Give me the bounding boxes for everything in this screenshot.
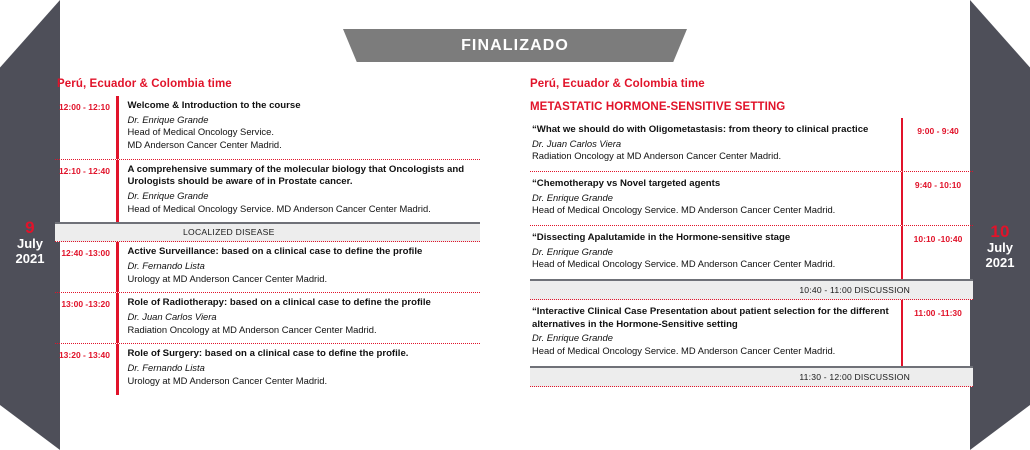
day2-session-title: “Chemotherapy vs Novel targeted agents (532, 178, 893, 191)
day2-date-day: 10 (970, 222, 1030, 241)
day2-session-time: 10:10 -10:40 (903, 226, 973, 279)
day1-date-month: July (0, 237, 60, 252)
day1-session-body: Role of Radiotherapy: based on a clinica… (119, 293, 481, 343)
day1-session-speaker: Dr. Enrique Grande (128, 190, 479, 203)
day2-timezone-title: Perú, Ecuador & Colombia time (530, 78, 705, 90)
day1-session-speaker: Dr. Fernando Lista (128, 362, 479, 375)
day1-session-time: 12:00 - 12:10 (55, 96, 116, 159)
day1-session-speaker: Dr. Juan Carlos Viera (128, 311, 479, 324)
day2-date: 10 July 2021 (970, 222, 1030, 270)
day2-session-body: “What we should do with Oligometastasis:… (530, 118, 901, 171)
day1-session-time: 12:40 -13:00 (55, 242, 116, 292)
day1-session-row[interactable]: 13:20 - 13:40Role of Surgery: based on a… (55, 344, 480, 394)
day1-session-body: Active Surveillance: based on a clinical… (119, 242, 481, 292)
day1-session-title: Active Surveillance: based on a clinical… (128, 246, 479, 259)
day2-session-time: 9:40 - 10:10 (903, 172, 973, 225)
day2-session-speaker: Dr. Enrique Grande (532, 192, 893, 205)
day1-session-title: Welcome & Introduction to the course (128, 100, 479, 113)
day2-session-title: “What we should do with Oligometastasis:… (532, 124, 893, 137)
day2-discussion-band-label: 11:30 - 12:00 DISCUSSION (799, 372, 910, 382)
day1-date: 9 July 2021 (0, 218, 60, 266)
day2-schedule-list: “What we should do with Oligometastasis:… (530, 118, 973, 387)
day2-session-time: 9:00 - 9:40 (903, 118, 973, 171)
day2-session-affiliation: Head of Medical Oncology Service. MD And… (532, 204, 893, 217)
day1-session-speaker: Dr. Enrique Grande (128, 114, 479, 127)
day2-session-affiliation: Head of Medical Oncology Service. MD And… (532, 345, 893, 358)
day2-session-title: “Dissecting Apalutamide in the Hormone-s… (532, 232, 893, 245)
day2-session-affiliation: Head of Medical Oncology Service. MD And… (532, 258, 893, 271)
day1-session-affiliation: Head of Medical Oncology Service. (128, 126, 479, 139)
day1-date-year: 2021 (0, 252, 60, 267)
day1-session-row[interactable]: 12:40 -13:00Active Surveillance: based o… (55, 242, 480, 293)
day1-session-row[interactable]: 13:00 -13:20Role of Radiotherapy: based … (55, 293, 480, 344)
status-banner: FINALIZADO (343, 29, 687, 62)
day1-session-title: Role of Radiotherapy: based on a clinica… (128, 297, 479, 310)
day2-session-time: 11:00 -11:30 (903, 300, 973, 366)
day1-session-time: 13:20 - 13:40 (55, 344, 116, 394)
day1-session-row[interactable]: 12:00 - 12:10Welcome & Introduction to t… (55, 96, 480, 160)
day2-discussion-band: 10:40 - 11:00 DISCUSSION (530, 279, 973, 300)
day2-session-speaker: Dr. Enrique Grande (532, 332, 893, 345)
day1-session-time: 13:00 -13:20 (55, 293, 116, 343)
day2-session-body: “Dissecting Apalutamide in the Hormone-s… (530, 226, 901, 279)
day2-session-affiliation: Radiation Oncology at MD Anderson Cancer… (532, 150, 893, 163)
status-banner-label: FINALIZADO (461, 37, 569, 55)
day2-session-row[interactable]: “Chemotherapy vs Novel targeted agentsDr… (530, 172, 973, 226)
day1-date-day: 9 (0, 218, 60, 237)
day2-session-speaker: Dr. Enrique Grande (532, 246, 893, 259)
day1-session-affiliation: Urology at MD Anderson Cancer Center Mad… (128, 273, 479, 286)
day1-session-title: A comprehensive summary of the molecular… (128, 164, 479, 189)
day2-discussion-band-label: 10:40 - 11:00 DISCUSSION (799, 285, 910, 295)
day2-session-row[interactable]: “Interactive Clinical Case Presentation … (530, 300, 973, 366)
day2-session-row[interactable]: “Dissecting Apalutamide in the Hormone-s… (530, 226, 973, 279)
day1-session-affiliation-2: MD Anderson Cancer Center Madrid. (128, 139, 479, 152)
day2-date-year: 2021 (970, 256, 1030, 271)
day1-schedule-list: 12:00 - 12:10Welcome & Introduction to t… (55, 96, 480, 395)
day2-session-body: “Interactive Clinical Case Presentation … (530, 300, 901, 366)
day2-date-month: July (970, 241, 1030, 256)
day1-session-time: 12:10 - 12:40 (55, 160, 116, 223)
day2-discussion-band: 11:30 - 12:00 DISCUSSION (530, 366, 973, 387)
agenda-page: 9 July 2021 10 July 2021 FINALIZADO Perú… (0, 0, 1030, 450)
day1-section-band: LOCALIZED DISEASE (55, 222, 480, 242)
day1-session-speaker: Dr. Fernando Lista (128, 260, 479, 273)
day2-section-title: METASTATIC HORMONE-SENSITIVE SETTING (530, 101, 785, 113)
day1-session-row[interactable]: 12:10 - 12:40A comprehensive summary of … (55, 160, 480, 223)
day1-timezone-title: Perú, Ecuador & Colombia time (57, 78, 232, 90)
day1-date-banner: 9 July 2021 (0, 0, 60, 450)
day2-date-banner: 10 July 2021 (970, 0, 1030, 450)
day1-session-body: A comprehensive summary of the molecular… (119, 160, 481, 223)
day1-session-body: Welcome & Introduction to the courseDr. … (119, 96, 481, 159)
day2-session-body: “Chemotherapy vs Novel targeted agentsDr… (530, 172, 901, 225)
day1-section-band-label: LOCALIZED DISEASE (183, 227, 275, 237)
day1-session-affiliation: Head of Medical Oncology Service. MD And… (128, 203, 479, 216)
day1-session-affiliation: Urology at MD Anderson Cancer Center Mad… (128, 375, 479, 388)
day1-session-title: Role of Surgery: based on a clinical cas… (128, 348, 479, 361)
day2-session-row[interactable]: “What we should do with Oligometastasis:… (530, 118, 973, 172)
day2-session-speaker: Dr. Juan Carlos Viera (532, 138, 893, 151)
day1-session-body: Role of Surgery: based on a clinical cas… (119, 344, 481, 394)
day1-session-affiliation: Radiation Oncology at MD Anderson Cancer… (128, 324, 479, 337)
day2-session-title: “Interactive Clinical Case Presentation … (532, 306, 893, 331)
